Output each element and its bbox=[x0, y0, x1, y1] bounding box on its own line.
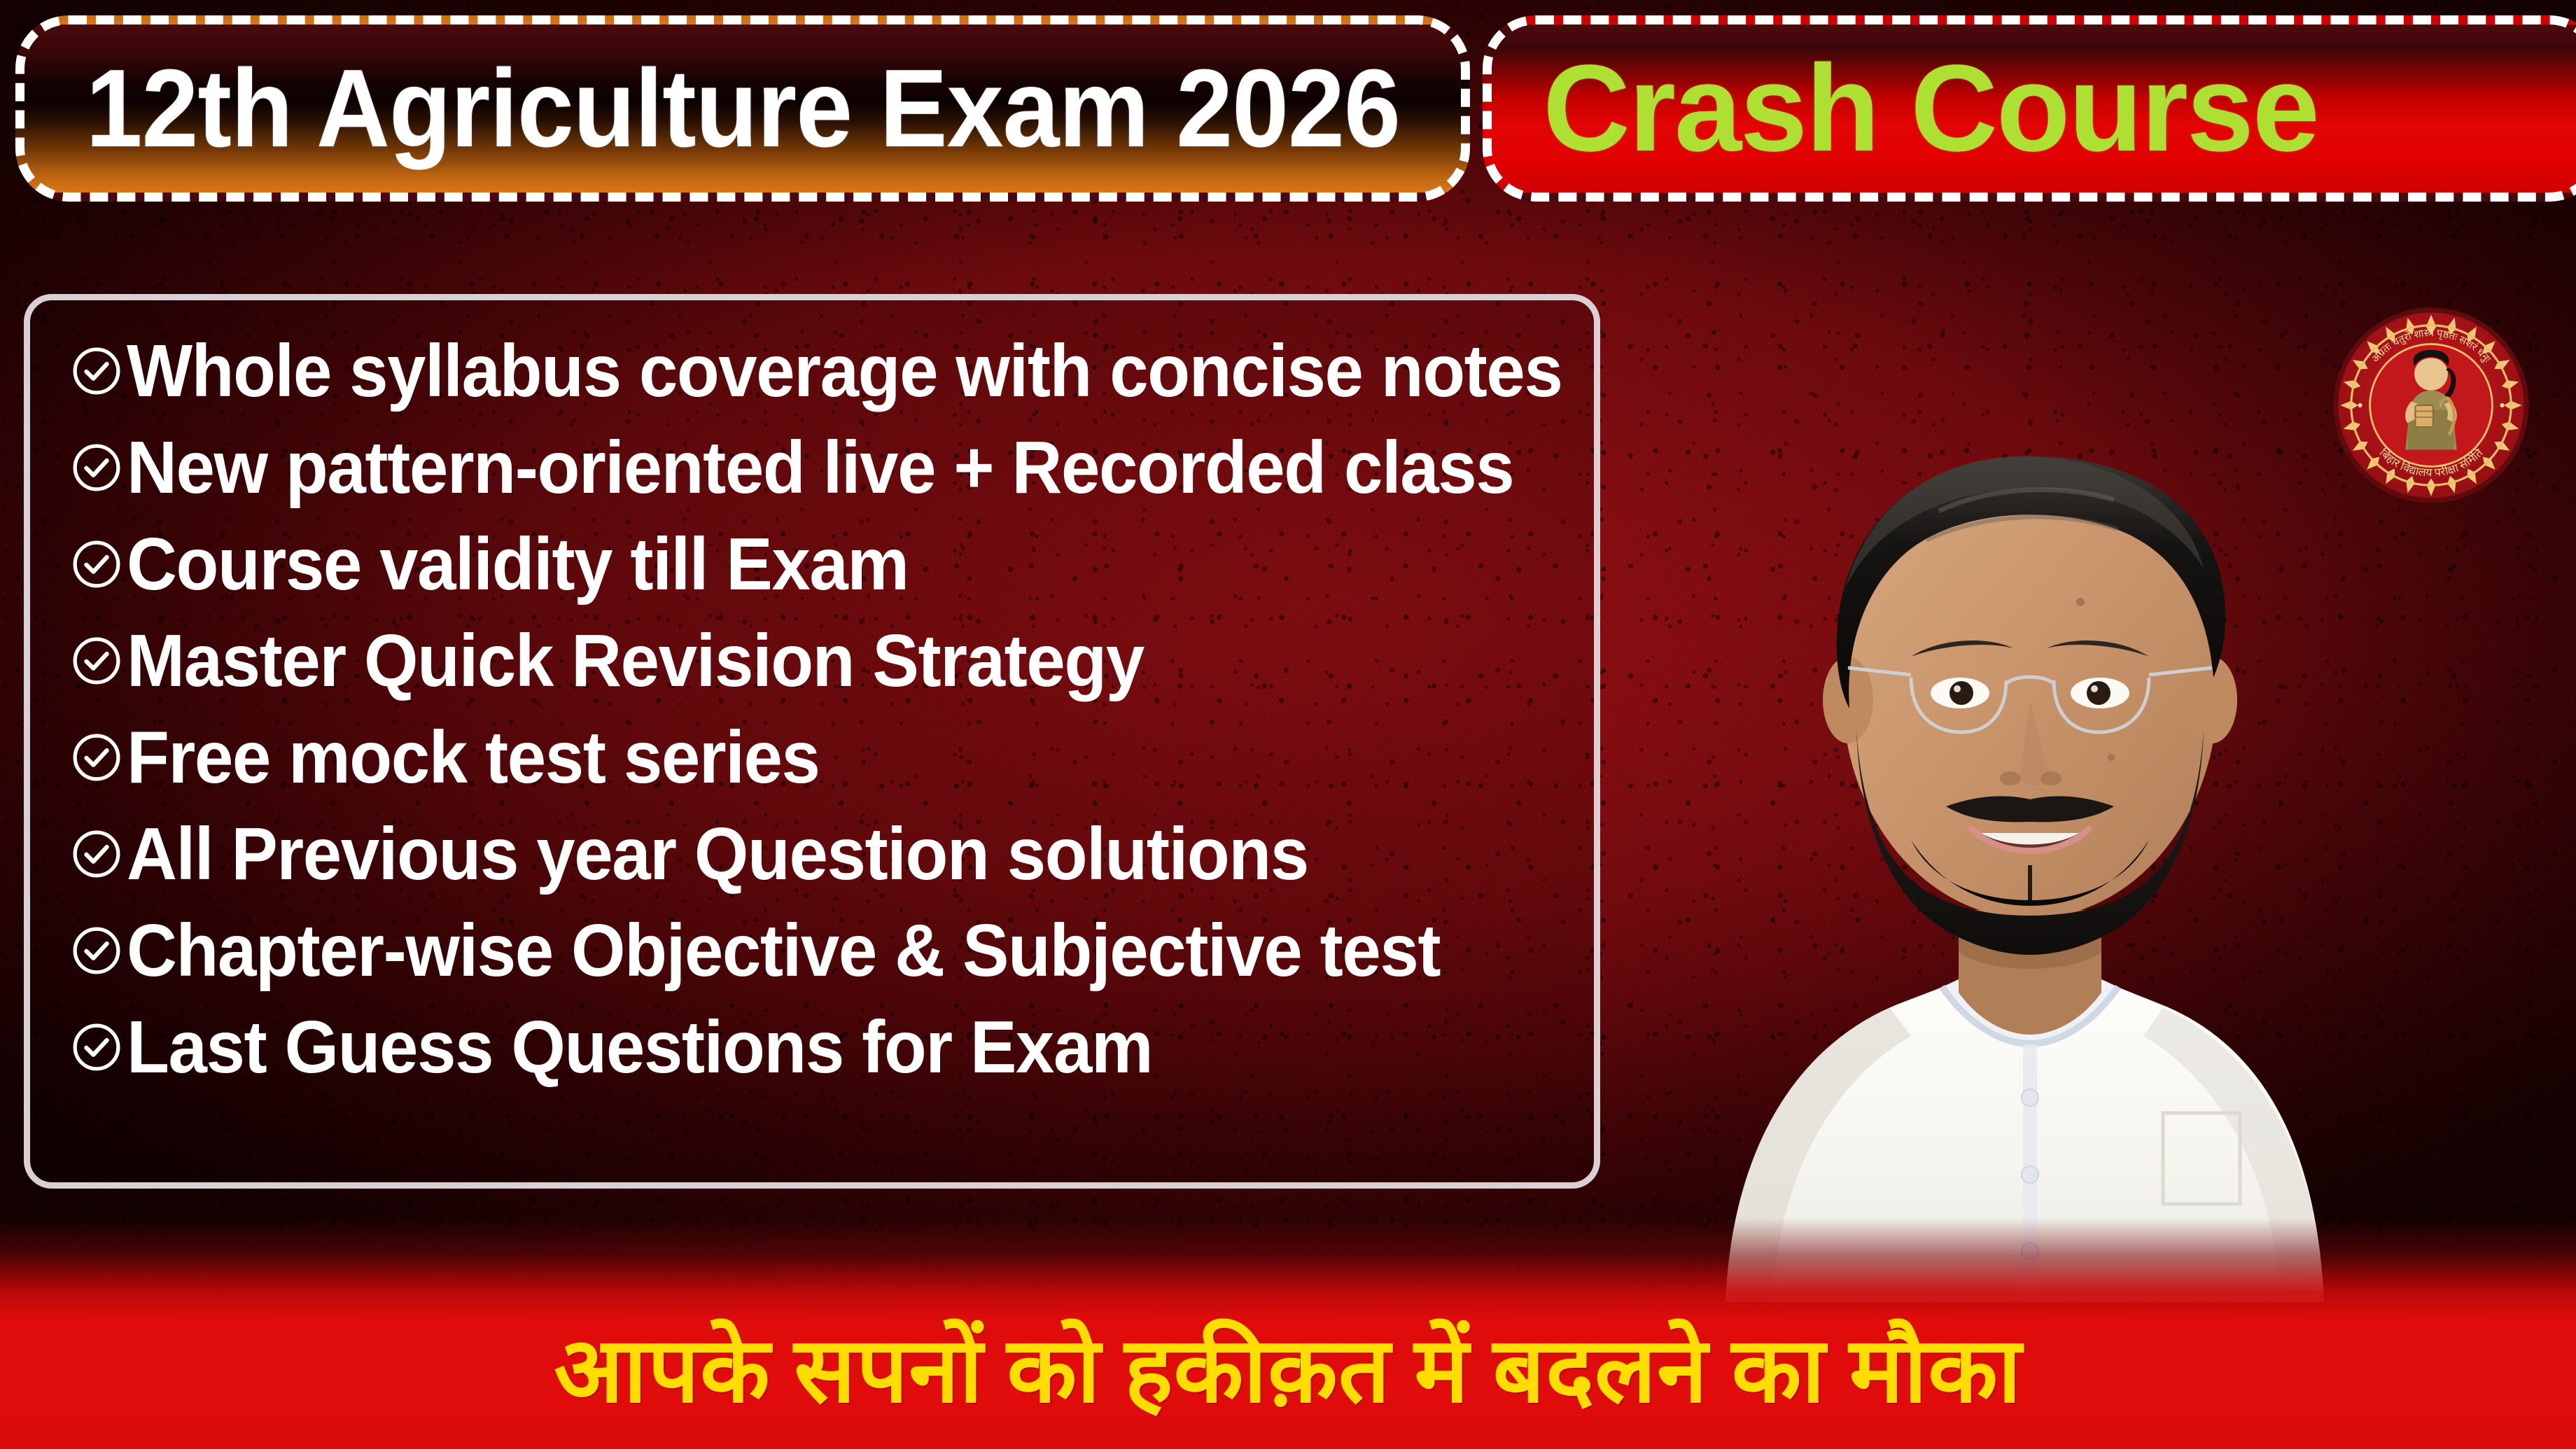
list-item-label: Master Quick Revision Strategy bbox=[127, 624, 1144, 698]
list-item: Whole syllabus coverage with concise not… bbox=[71, 323, 1594, 419]
list-item-label: Chapter-wise Objective & Subjective test bbox=[127, 913, 1440, 988]
list-item-label: All Previous year Question solutions bbox=[127, 817, 1308, 891]
page-title: 12th Agriculture Exam 2026 bbox=[85, 53, 1399, 164]
circle-check-icon bbox=[71, 442, 122, 493]
promo-banner: 12th Agriculture Exam 2026 Crash Course … bbox=[0, 0, 2576, 1449]
status-badge: Crash Course bbox=[1543, 47, 2318, 170]
list-item-label: New pattern-oriented live + Recorded cla… bbox=[127, 430, 1513, 505]
circle-check-icon bbox=[71, 731, 122, 783]
list-item-label: Free mock test series bbox=[127, 720, 820, 794]
crash-course-badge-box: Crash Course bbox=[1483, 15, 2576, 202]
list-item: New pattern-oriented live + Recorded cla… bbox=[71, 419, 1594, 516]
exam-title-box: 12th Agriculture Exam 2026 bbox=[15, 15, 1470, 202]
header: 12th Agriculture Exam 2026 Crash Course bbox=[0, 8, 2576, 204]
bseb-board-seal-icon: अग्रतः चतुरो शास्त्रं पृष्ठतः सशरं धनुः … bbox=[2332, 307, 2530, 504]
list-item: All Previous year Question solutions bbox=[71, 806, 1594, 902]
list-item-label: Whole syllabus coverage with concise not… bbox=[127, 334, 1562, 408]
list-item: Master Quick Revision Strategy bbox=[71, 612, 1594, 709]
circle-check-icon bbox=[71, 828, 122, 880]
circle-check-icon bbox=[71, 635, 122, 687]
circle-check-icon bbox=[71, 925, 122, 976]
circle-check-icon bbox=[71, 1021, 122, 1073]
features-list: Whole syllabus coverage with concise not… bbox=[24, 294, 1600, 1189]
tagline-banner: आपके सपनों को हकीक़त में बदलने का मौका bbox=[0, 1218, 2576, 1449]
tagline-text: आपके सपनों को हकीक़त में बदलने का मौका bbox=[554, 1319, 2022, 1424]
circle-check-icon bbox=[71, 538, 122, 590]
list-item-label: Course validity till Exam bbox=[127, 527, 909, 601]
list-item: Free mock test series bbox=[71, 709, 1594, 806]
list-item-label: Last Guess Questions for Exam bbox=[127, 1010, 1152, 1084]
circle-check-icon bbox=[71, 345, 122, 397]
list-item: Course validity till Exam bbox=[71, 516, 1594, 612]
list-item: Last Guess Questions for Exam bbox=[71, 999, 1594, 1095]
list-item: Chapter-wise Objective & Subjective test bbox=[71, 902, 1594, 999]
instructor-portrait-icon bbox=[1610, 210, 2436, 1302]
